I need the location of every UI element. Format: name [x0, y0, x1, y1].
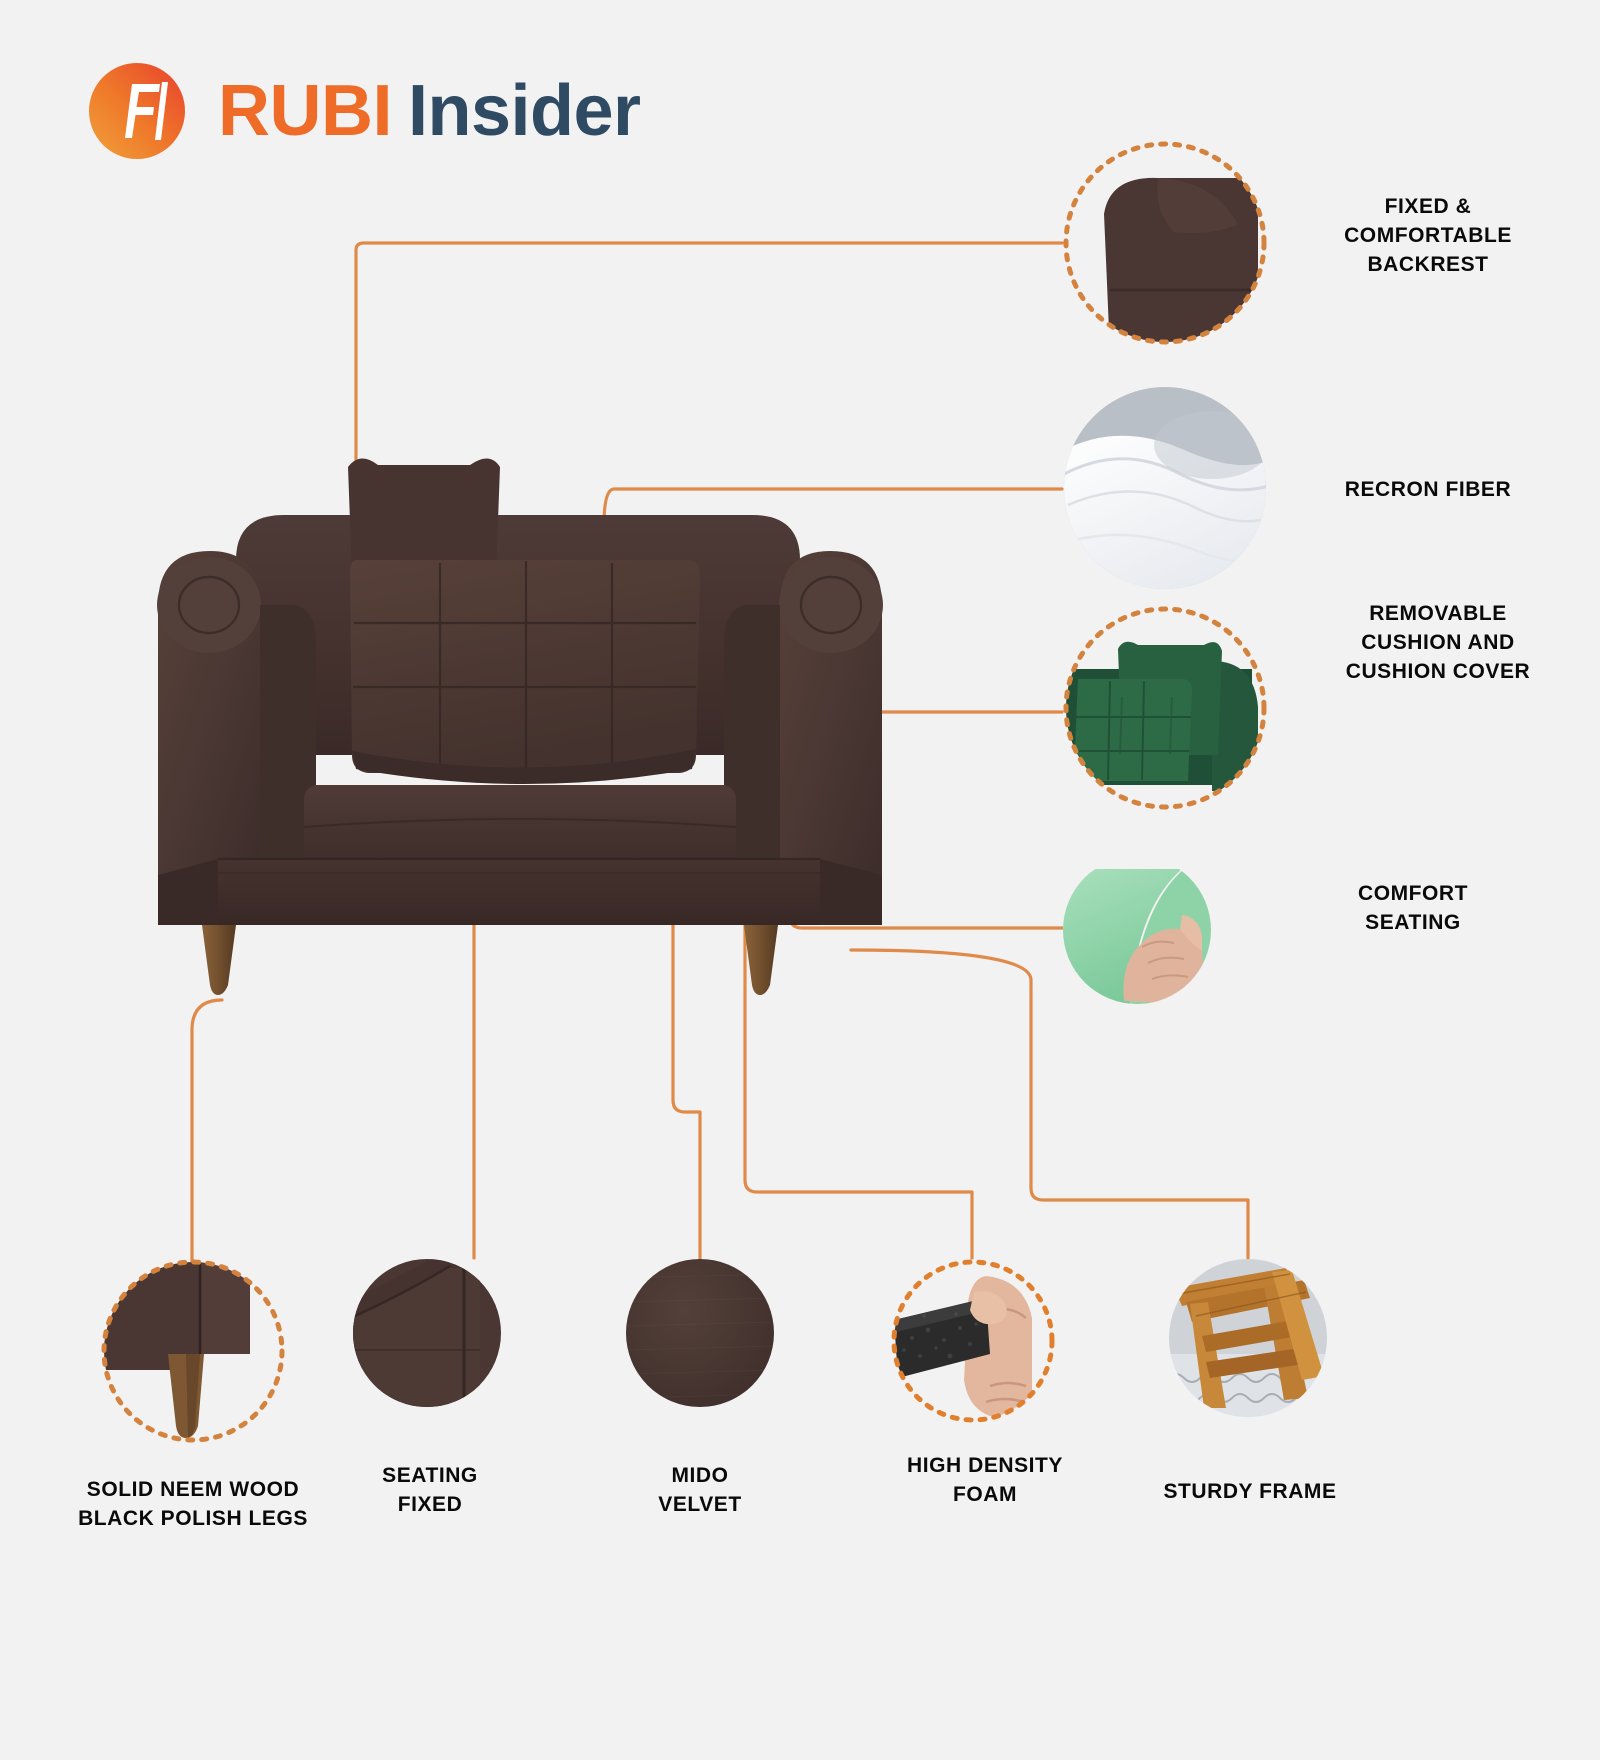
callout-label-removable-cushion: REMOVABLE CUSHION AND CUSHION COVER — [1288, 600, 1588, 687]
brand-header: RUBI Insider — [78, 52, 641, 170]
callout-label-sturdy-frame: STURDY FRAME — [1140, 1478, 1360, 1507]
callout-label-recron-fiber: RECRON FIBER — [1288, 476, 1568, 505]
callout-bubble-mido-velvet — [625, 1258, 775, 1408]
rubi-fi-monogram-icon — [78, 52, 196, 170]
callout-bubble-comfort-seating — [1062, 855, 1212, 1005]
callout-bubble-high-density-foam — [890, 1258, 1056, 1424]
callout-bubble-seating-fixed — [352, 1258, 502, 1408]
brand-wordmark: RUBI Insider — [218, 75, 641, 147]
callout-bubble-fixed-comfortable-backrest — [1062, 140, 1268, 346]
armchair-illustration — [140, 455, 900, 1015]
callout-bubble-removable-cushion — [1062, 605, 1268, 811]
brand-name-secondary: Insider — [408, 75, 641, 147]
callout-bubble-recron-fiber — [1062, 385, 1268, 591]
infographic-stage: RUBI Insider — [0, 0, 1600, 1760]
brand-name-primary: RUBI — [218, 75, 392, 147]
callout-label-comfort-seating: COMFORT SEATING — [1288, 880, 1538, 938]
callout-label-seating-fixed: SEATING FIXED — [330, 1462, 530, 1520]
callout-bubble-sturdy-frame — [1168, 1258, 1328, 1418]
callout-label-mido-velvet: MIDO VELVET — [600, 1462, 800, 1520]
callout-label-neem-wood-legs: SOLID NEEM WOOD BLACK POLISH LEGS — [58, 1476, 328, 1534]
callout-label-fixed-comfortable-backrest: FIXED & COMFORTABLE BACKREST — [1288, 193, 1568, 280]
callout-label-high-density-foam: HIGH DENSITY FOAM — [870, 1452, 1100, 1510]
callout-bubble-neem-wood-legs — [100, 1258, 286, 1444]
